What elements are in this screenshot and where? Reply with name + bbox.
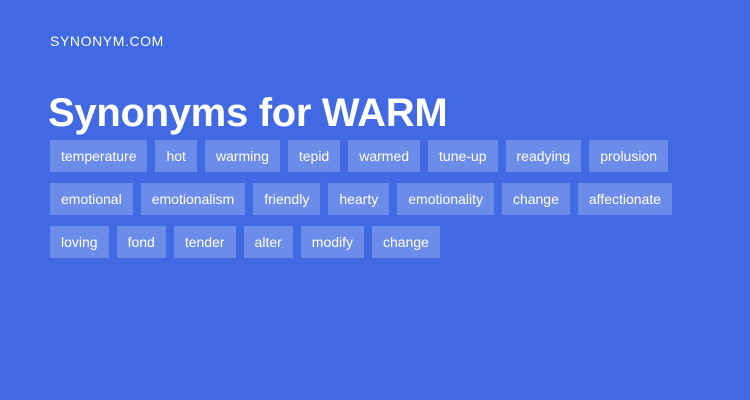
tag-row: emotional emotionalism friendly hearty e… [50,183,710,215]
synonym-tag[interactable]: temperature [50,140,147,172]
synonyms-page: SYNONYM.COM Synonyms for WARM temperatur… [0,0,750,400]
synonym-tag[interactable]: hot [155,140,196,172]
synonym-tag[interactable]: friendly [253,183,320,215]
page-title: Synonyms for WARM [48,89,447,137]
synonym-tag[interactable]: emotionality [397,183,494,215]
synonym-tag[interactable]: alter [244,226,293,258]
synonym-tag[interactable]: emotionalism [141,183,245,215]
synonym-tag[interactable]: modify [301,226,364,258]
synonym-tag[interactable]: emotional [50,183,133,215]
synonym-tag[interactable]: change [502,183,570,215]
synonym-tag[interactable]: warming [205,140,280,172]
synonym-tag[interactable]: tepid [288,140,340,172]
site-brand[interactable]: SYNONYM.COM [50,33,164,50]
synonym-tag[interactable]: tender [174,226,236,258]
synonym-tag[interactable]: fond [117,226,166,258]
synonym-tag[interactable]: change [372,226,440,258]
tag-row: temperature hot warming tepid warmed tun… [50,140,710,172]
synonym-tag[interactable]: warmed [348,140,420,172]
synonym-tag[interactable]: readying [506,140,582,172]
tag-row: loving fond tender alter modify change [50,226,710,258]
synonym-tag[interactable]: loving [50,226,109,258]
synonym-tag[interactable]: prolusion [589,140,668,172]
synonym-tag[interactable]: affectionate [578,183,672,215]
synonym-tag-cloud: temperature hot warming tepid warmed tun… [50,140,710,258]
synonym-tag[interactable]: tune-up [428,140,497,172]
synonym-tag[interactable]: hearty [328,183,389,215]
